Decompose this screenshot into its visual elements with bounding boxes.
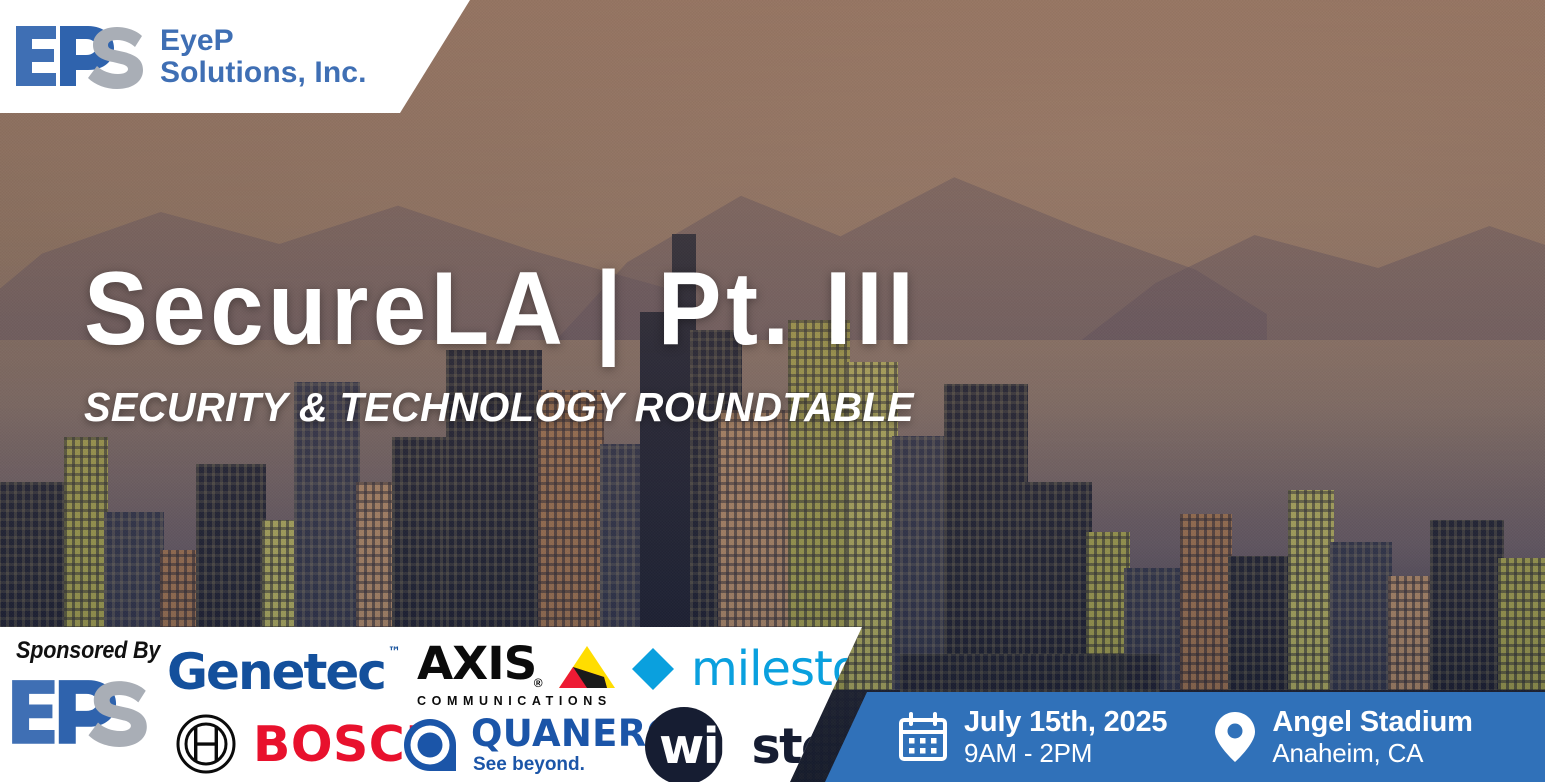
- hero-text-block: SecureLA | Pt. III SECURITY & TECHNOLOGY…: [84, 262, 1084, 431]
- bosch-emblem-icon: [175, 713, 237, 775]
- event-venue-text: Angel Stadium Anaheim, CA: [1272, 707, 1472, 766]
- sponsor-logo-genetec: Genetec ™: [167, 643, 385, 701]
- quanergy-mark-icon: [401, 716, 459, 774]
- event-date-primary: July 15th, 2025: [964, 707, 1167, 738]
- sponsor-axis-tagline: COMMUNICATIONS: [417, 694, 617, 708]
- sponsor-logo-eps-icon: [10, 671, 150, 755]
- milestone-diamond-icon: [629, 645, 677, 693]
- calendar-icon: [897, 711, 949, 763]
- eps-logo-icon: [14, 20, 146, 94]
- axis-triangle-icon: [547, 644, 617, 690]
- event-date-item: July 15th, 2025 9AM - 2PM: [897, 707, 1167, 766]
- event-details-bar: July 15th, 2025 9AM - 2PM Angel Stadium …: [825, 692, 1545, 782]
- event-banner: EyeP Solutions, Inc. SecureLA | Pt. III …: [0, 0, 1545, 782]
- sponsored-by-label: Sponsored By: [16, 637, 142, 665]
- brand-line-1: EyeP: [160, 25, 367, 57]
- page-subtitle: SECURITY & TECHNOLOGY ROUNDTABLE: [84, 384, 1054, 431]
- event-venue-primary: Angel Stadium: [1272, 707, 1472, 738]
- sponsor-logo-grid: Genetec ™ AXIS ® COMMUNICATION: [163, 635, 883, 781]
- sponsor-logo-axis: AXIS ® COMMUNICATIONS: [417, 637, 617, 708]
- sponsor-winsted-wordmark-a: win: [659, 718, 751, 775]
- brand-company-name: EyeP Solutions, Inc.: [160, 25, 367, 89]
- event-date-secondary: 9AM - 2PM: [964, 739, 1167, 767]
- event-venue-secondary: Anaheim, CA: [1272, 739, 1472, 767]
- sponsor-axis-wordmark: AXIS: [417, 637, 536, 690]
- map-pin-icon: [1213, 710, 1257, 764]
- event-venue-item: Angel Stadium Anaheim, CA: [1213, 707, 1472, 766]
- brand-line-2: Solutions, Inc.: [160, 57, 367, 89]
- sponsor-genetec-wordmark: Genetec: [167, 643, 385, 701]
- brand-logo-flag: EyeP Solutions, Inc.: [0, 0, 470, 113]
- sponsors-band: Sponsored By Genetec ™ AXIS ®: [0, 627, 905, 782]
- trademark-icon: ™: [388, 645, 401, 660]
- event-date-text: July 15th, 2025 9AM - 2PM: [964, 707, 1167, 766]
- page-title: SecureLA | Pt. III: [84, 262, 1004, 358]
